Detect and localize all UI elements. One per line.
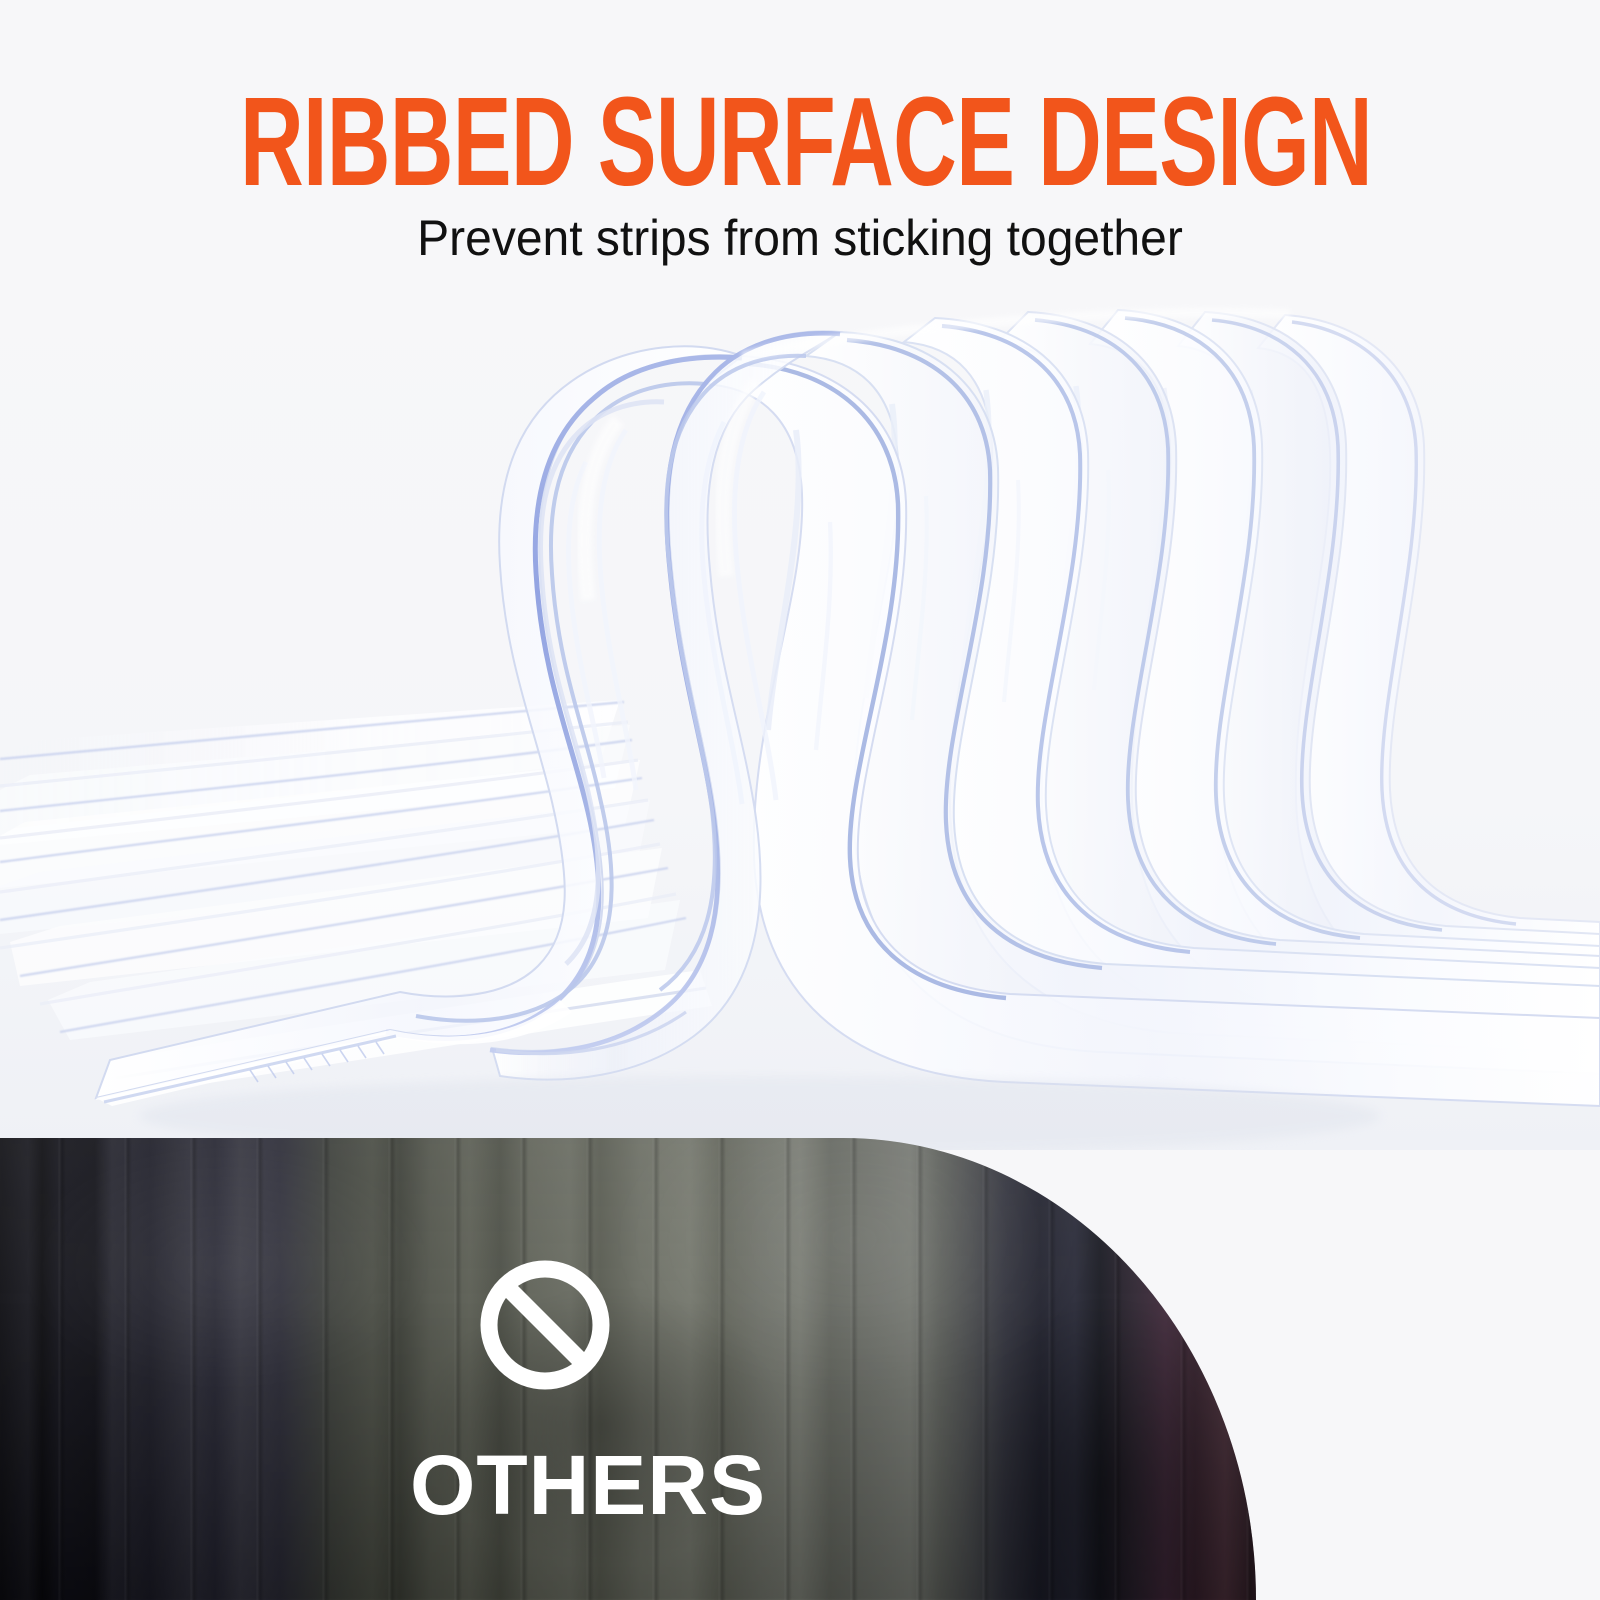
pvc-strip-curtain-illustration	[0, 270, 1600, 1150]
others-label: OTHERS	[410, 1443, 766, 1527]
header-block: RIBBED SURFACE DESIGN Prevent strips fro…	[0, 0, 1600, 290]
product-photo	[0, 270, 1600, 1150]
page-title: RIBBED SURFACE DESIGN	[240, 88, 1360, 196]
product-feature-image: RIBBED SURFACE DESIGN Prevent strips fro…	[0, 0, 1600, 1600]
prohibition-icon	[478, 1258, 612, 1392]
page-subtitle: Prevent strips from sticking together	[32, 208, 1568, 268]
